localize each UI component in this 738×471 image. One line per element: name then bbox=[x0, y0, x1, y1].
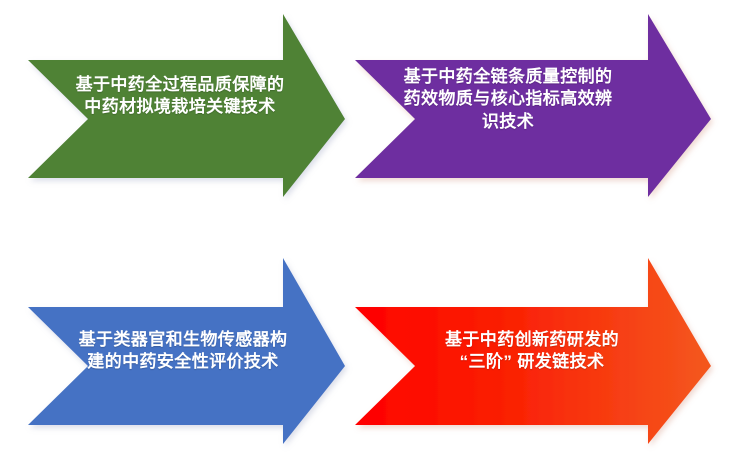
arrow-shape-4[interactable] bbox=[355, 258, 711, 444]
arrow-shape-2[interactable] bbox=[355, 14, 711, 197]
arrow-shape-3[interactable] bbox=[28, 258, 345, 444]
arrow-shape-1[interactable] bbox=[28, 14, 345, 197]
arrow-shapes-canvas bbox=[0, 0, 738, 471]
arrow-process-diagram: 基于中药全过程品质保障的 中药材拟境栽培关键技术 基于中药全链条质量控制的 药效… bbox=[0, 0, 738, 471]
